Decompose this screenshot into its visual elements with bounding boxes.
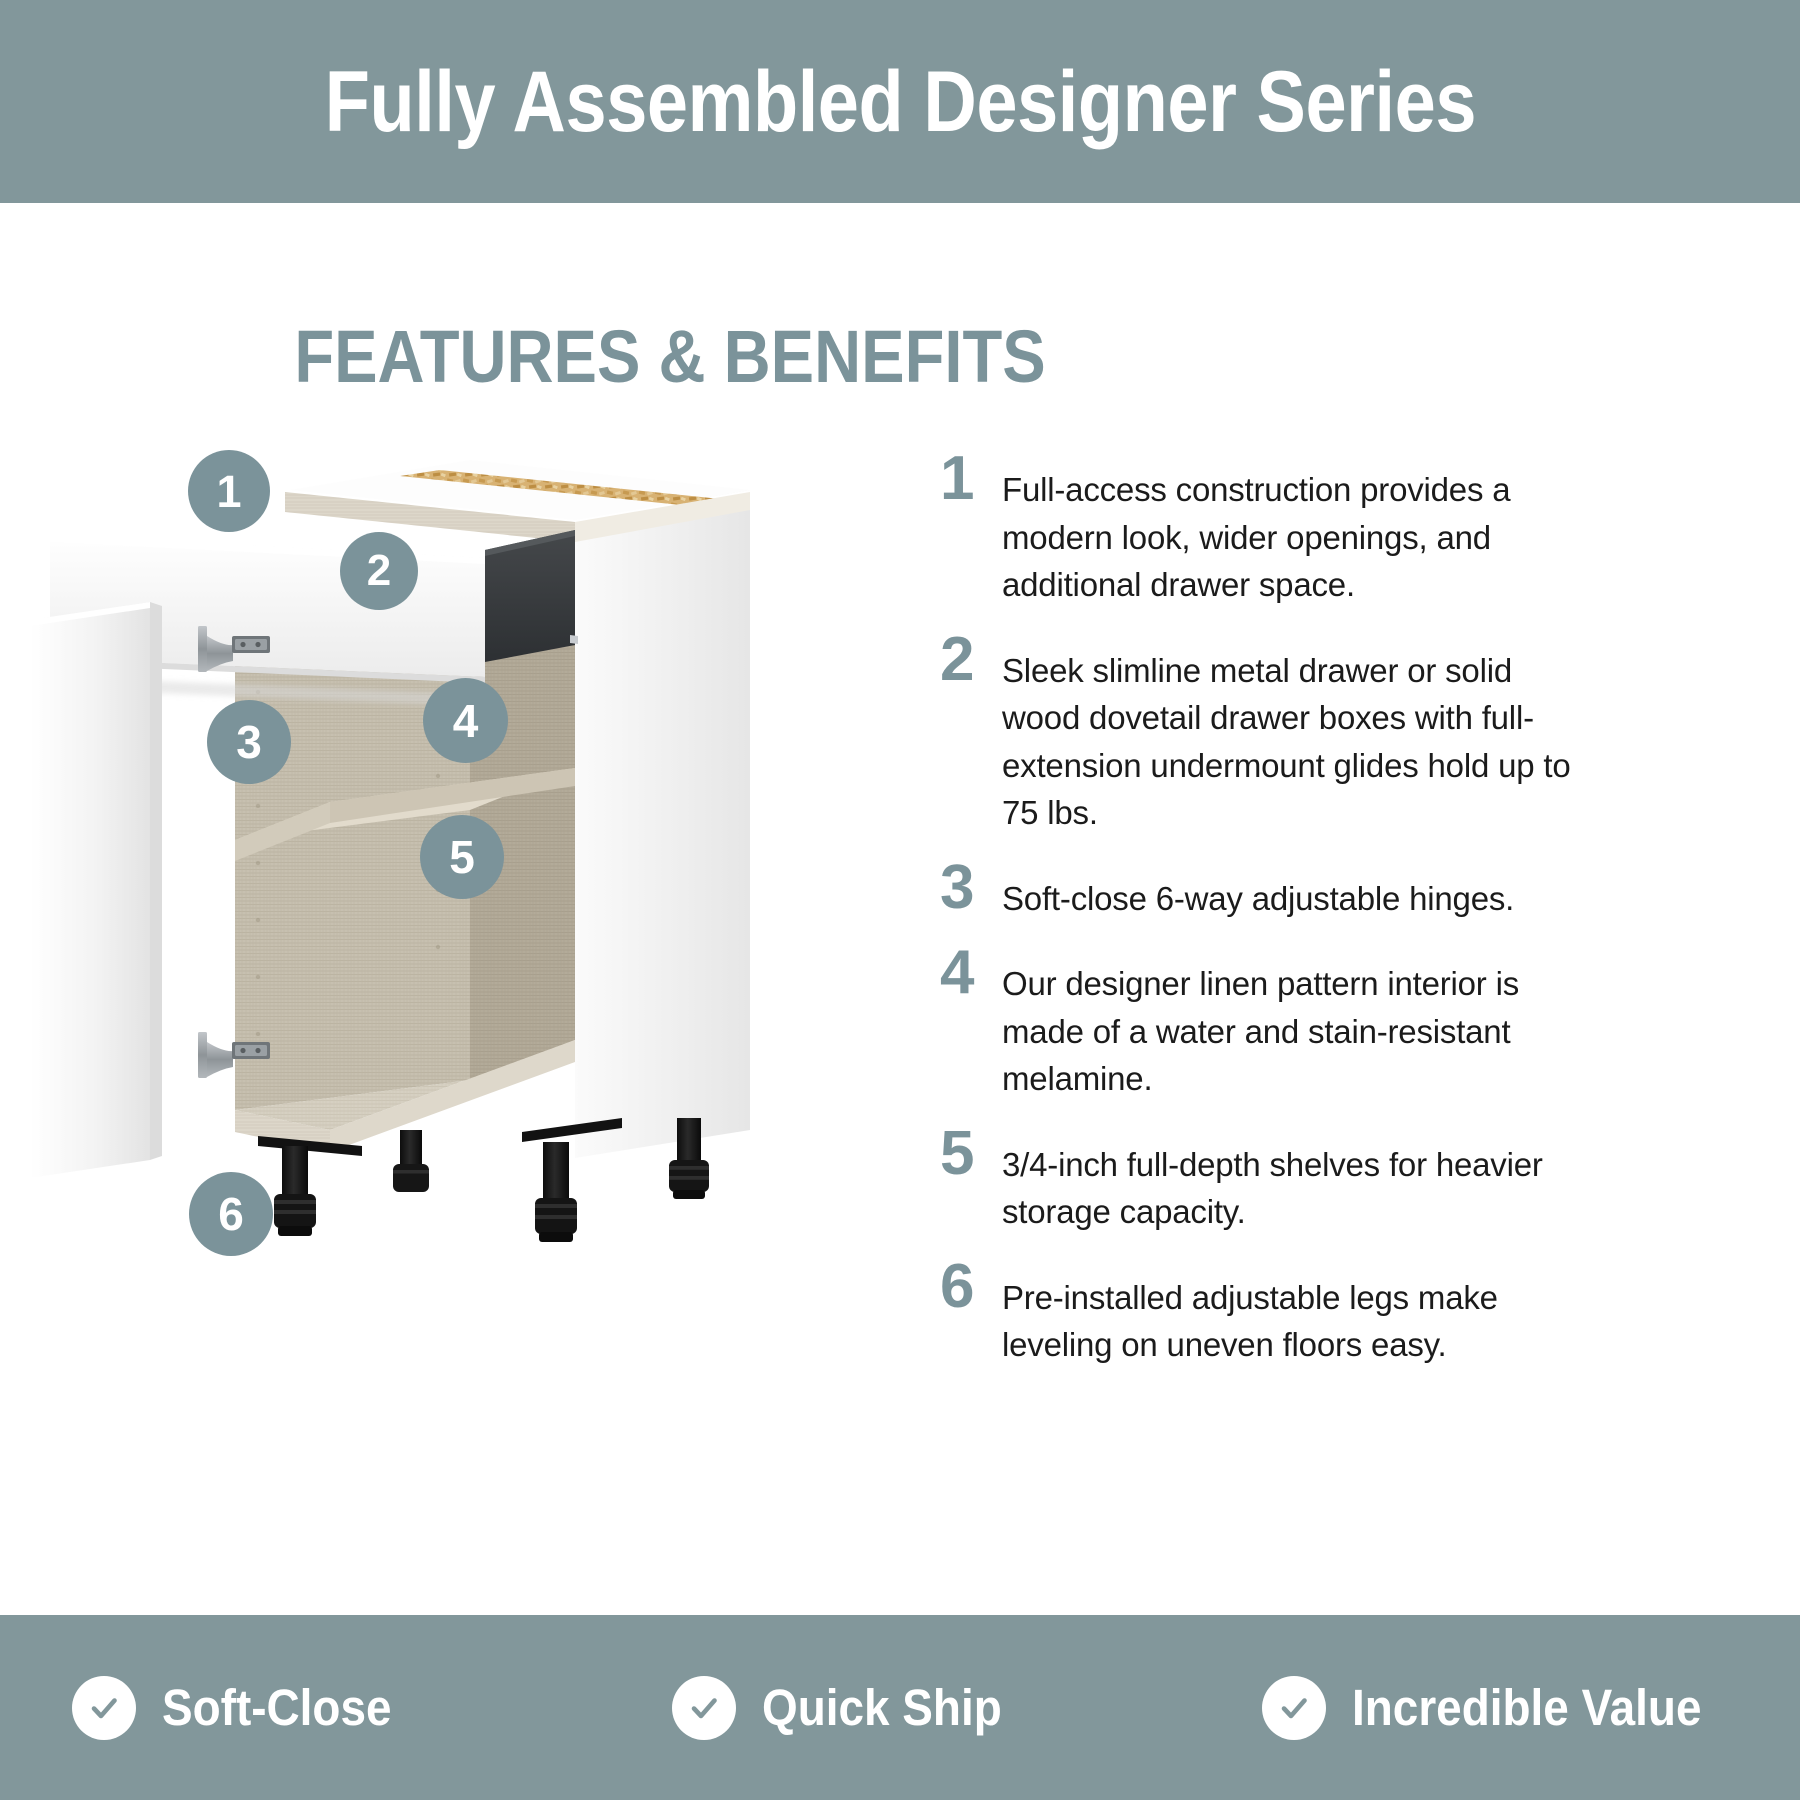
header-banner: Fully Assembled Designer Series [0,0,1800,203]
feature-number: 4 [940,944,1002,999]
footer-badge-label: Soft-Close [162,1682,392,1733]
cabinet-right-side [575,490,750,1158]
feature-description: Soft-close 6-way adjustable hinges. [1002,859,1580,923]
feature-description: Our designer linen pattern interior is m… [1002,944,1580,1103]
feature-item: 4 Our designer linen pattern interior is… [940,944,1580,1103]
section-title: FEATURES & BENEFITS [80,320,1259,394]
callout-badge-1: 1 [188,450,270,532]
feature-description: Sleek slimline metal drawer or solid woo… [1002,631,1580,837]
check-circle-icon [72,1676,136,1740]
cabinet-door [30,602,162,1178]
callout-badge-2: 2 [340,532,418,610]
feature-number: 1 [940,450,1002,505]
footer-badge-label: Quick Ship [762,1682,1002,1733]
feature-number: 2 [940,631,1002,686]
callout-badge-4: 4 [423,678,508,763]
feature-description: Pre-installed adjustable legs make level… [1002,1258,1580,1369]
check-circle-icon [1262,1676,1326,1740]
callout-badge-5: 5 [420,815,504,899]
callout-badge-3: 3 [207,700,291,784]
feature-item: 2 Sleek slimline metal drawer or solid w… [940,631,1580,837]
metal-drawer-box [485,530,578,662]
footer-badge-label: Incredible Value [1352,1682,1701,1733]
page-title: Fully Assembled Designer Series [324,59,1475,145]
features-list: 1 Full-access construction provides a mo… [940,450,1580,1391]
leg-front-left [274,1146,316,1236]
leg-front-right [535,1142,577,1242]
feature-number: 5 [940,1125,1002,1180]
footer-badge-soft-close: Soft-Close [72,1676,672,1740]
footer-badge-quick-ship: Quick Ship [672,1676,1262,1740]
footer-badge-incredible-value: Incredible Value [1262,1676,1800,1740]
feature-item: 5 3/4-inch full-depth shelves for heavie… [940,1125,1580,1236]
feature-number: 6 [940,1258,1002,1313]
callout-badge-6: 6 [189,1172,273,1256]
feature-item: 6 Pre-installed adjustable legs make lev… [940,1258,1580,1369]
feature-description: Full-access construction provides a mode… [1002,450,1580,609]
feature-number: 3 [940,859,1002,914]
check-circle-icon [672,1676,736,1740]
leg-rear-left [393,1130,429,1192]
product-image [30,430,820,1330]
feature-description: 3/4-inch full-depth shelves for heavier … [1002,1125,1580,1236]
feature-item: 1 Full-access construction provides a mo… [940,450,1580,609]
footer-banner: Soft-Close Quick Ship Incredible Value [0,1615,1800,1800]
feature-item: 3 Soft-close 6-way adjustable hinges. [940,859,1580,923]
